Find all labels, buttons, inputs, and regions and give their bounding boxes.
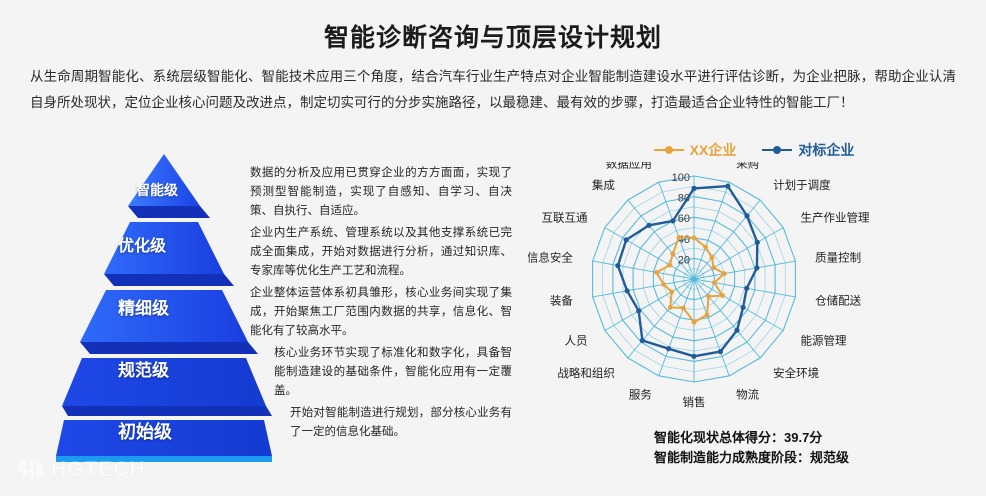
legend-label-self: XX企业 <box>690 140 737 160</box>
radar-point-0-14 <box>654 270 659 275</box>
radar-point-0-3 <box>711 265 716 270</box>
radar-axis-label-安全环境: 安全环境 <box>773 366 819 380</box>
radar-point-1-11 <box>640 338 645 343</box>
watermark-text: HGTECH <box>51 458 146 482</box>
legend-marker-benchmark <box>762 149 792 151</box>
radar-point-1-15 <box>624 237 629 242</box>
radar-point-0-2 <box>710 255 715 260</box>
radar-point-1-17 <box>670 218 675 223</box>
hgtech-logo-icon <box>18 458 44 482</box>
radar-point-0-6 <box>720 293 725 298</box>
radar-legend: XX企业 对标企业 <box>528 140 980 160</box>
pyramid-label-规范级: 规范级 <box>118 356 169 381</box>
radar-point-1-1 <box>725 184 730 189</box>
radar-point-1-16 <box>646 223 651 228</box>
legend-item-self[interactable]: XX企业 <box>654 140 737 160</box>
radar-point-1-5 <box>744 286 749 291</box>
radar-point-0-9 <box>692 320 697 325</box>
radar-point-0-8 <box>705 312 710 317</box>
radar-tick-20: 20 <box>678 254 690 266</box>
page-title: 智能诊断咨询与顶层设计规划 <box>0 18 986 54</box>
radar-axis-label-生产作业管理: 生产作业管理 <box>801 211 870 225</box>
radar-tick-60: 60 <box>678 213 690 225</box>
radar-axis-label-战略和组织: 战略和组织 <box>557 366 615 380</box>
legend-marker-self <box>654 149 684 151</box>
radar-point-1-2 <box>744 213 749 218</box>
radar-point-1-12 <box>636 308 641 313</box>
radar-point-0-13 <box>661 282 666 287</box>
radar-point-0-5 <box>712 280 717 285</box>
radar-point-0-4 <box>722 271 727 276</box>
radar-axis-label-能源管理: 能源管理 <box>801 334 847 348</box>
summary-maturity-stage: 智能制造能力成熟度阶段：规范级 <box>654 448 849 468</box>
radar-point-0-10 <box>681 306 686 311</box>
radar-axis-label-采购: 采购 <box>736 162 759 170</box>
pyramid-desc-2: 企业整体运营体系初具雏形，核心业务间实现了集成，开始聚焦工厂范围内数据的共享，信… <box>250 284 512 341</box>
radar-point-0-7 <box>706 294 711 299</box>
radar-axis-label-工艺设计: 工艺设计 <box>671 162 717 163</box>
pyramid-label-优化级: 优化级 <box>118 232 166 256</box>
radar-point-0-15 <box>668 263 673 268</box>
radar-chart: 20406080100工艺设计采购计划于调度生产作业管理质量控制仓储配送能源管理… <box>528 162 980 432</box>
radar-axis-label-互联互通: 互联互通 <box>542 211 588 225</box>
radar-point-1-10 <box>666 346 671 351</box>
radar-point-1-8 <box>718 349 723 354</box>
radar-point-0-1 <box>703 245 708 250</box>
radar-axis-label-计划于调度: 计划于调度 <box>773 178 831 192</box>
radar-axis-label-集成: 集成 <box>592 178 615 192</box>
pyramid-desc-0: 数据的分析及应用已贯穿企业的方方面面，实现了预测型智能制造，实现了自感知、自学习… <box>250 164 512 221</box>
radar-point-1-3 <box>755 240 760 245</box>
pyramid-graphic: 智能级 优化级 精细级 规范级 初始级 <box>14 148 274 464</box>
radar-axis-label-服务: 服务 <box>629 388 652 402</box>
radar-point-1-14 <box>615 263 620 268</box>
radar-point-1-6 <box>741 305 746 310</box>
maturity-pyramid: 智能级 优化级 精细级 规范级 初始级 数据的分析及应用已贯穿企业的方方面面，实… <box>14 148 534 464</box>
radar-point-1-0 <box>691 186 696 191</box>
watermark: HGTECH <box>18 458 146 482</box>
radar-axis-label-仓储配送: 仓储配送 <box>815 293 861 307</box>
radar-axis-label-数据应用: 数据应用 <box>606 162 652 170</box>
radar-point-0-12 <box>669 290 674 295</box>
pyramid-desc-4: 开始对智能制造进行规划，部分核心业务有了一定的信息化基础。 <box>290 404 512 442</box>
radar-point-1-9 <box>691 354 696 359</box>
pyramid-label-初始级: 初始级 <box>118 418 172 444</box>
intro-paragraph: 从生命周期智能化、系统层级智能化、智能技术应用三个角度，结合汽车行业生产特点对企… <box>30 64 956 116</box>
radar-point-0-11 <box>668 305 673 310</box>
radar-axis-label-装备: 装备 <box>550 293 573 307</box>
legend-item-benchmark[interactable]: 对标企业 <box>762 140 854 160</box>
radar-tick-100: 100 <box>672 172 690 184</box>
summary-block: 智能化现状总体得分：39.7分 智能制造能力成熟度阶段：规范级 <box>654 428 849 468</box>
radar-axis-label-人员: 人员 <box>565 335 588 348</box>
legend-label-benchmark: 对标企业 <box>798 140 854 160</box>
radar-axis-label-信息安全: 信息安全 <box>528 251 573 265</box>
radar-point-1-7 <box>734 328 739 333</box>
radar-chart-panel: XX企业 对标企业 20406080100工艺设计采购计划于调度生产作业管理质量… <box>528 140 980 440</box>
summary-total-score: 智能化现状总体得分：39.7分 <box>654 428 849 448</box>
slide-root: 智能诊断咨询与顶层设计规划 从生命周期智能化、系统层级智能化、智能技术应用三个角… <box>0 0 986 496</box>
radar-axis-label-销售: 销售 <box>683 395 706 409</box>
pyramid-desc-3: 核心业务环节实现了标准化和数字化，具备智能制造建设的基础条件，智能化应用有一定覆… <box>274 344 512 401</box>
pyramid-label-精细级: 精细级 <box>118 294 169 319</box>
radar-point-0-0 <box>692 235 697 240</box>
radar-axis-label-物流: 物流 <box>736 388 759 402</box>
pyramid-level-3 <box>80 290 258 354</box>
pyramid-label-智能级: 智能级 <box>136 180 178 200</box>
radar-point-1-4 <box>754 265 759 270</box>
radar-point-0-16 <box>670 251 675 256</box>
radar-axis-label-质量控制: 质量控制 <box>815 251 861 265</box>
pyramid-desc-1: 企业内生产系统、管理系统以及其他支撑系统已完成全面集成，开始对数据进行分析，通过… <box>250 224 512 281</box>
radar-point-0-17 <box>677 235 682 240</box>
radar-point-1-13 <box>625 288 630 293</box>
